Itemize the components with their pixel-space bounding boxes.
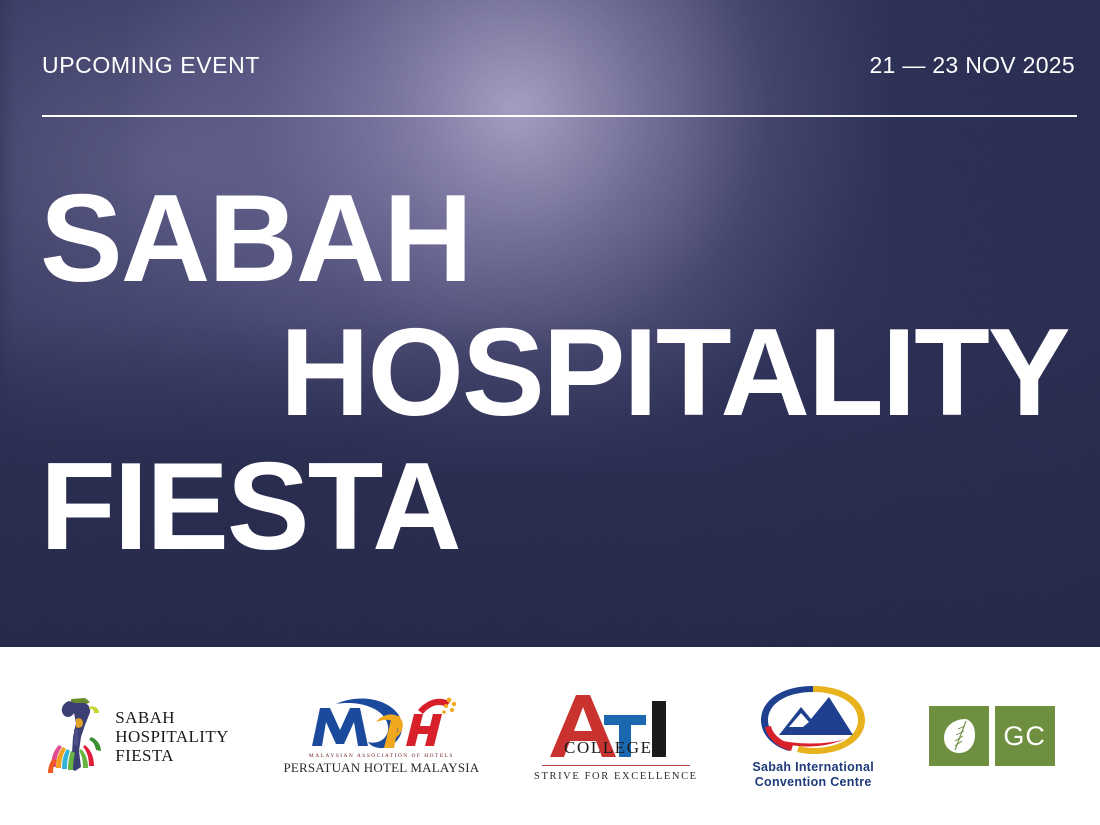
logo-mah-tagline-bottom: PERSATUAN HOTEL MALAYSIA — [283, 760, 479, 776]
title-line-1: SABAH — [0, 172, 1100, 306]
logo-malaysian-association-of-hotels[interactable]: MALAYSIAN ASSOCIATION OF HOTELS PERSATUA… — [283, 696, 479, 776]
logo-shf-line-3: FIESTA — [115, 746, 229, 765]
svg-text:COLLEGE: COLLEGE — [564, 738, 653, 757]
partner-logo-strip: SABAH HOSPITALITY FIESTA MALAYSIAN ASSOC… — [0, 647, 1100, 825]
logo-shf-text: SABAH HOSPITALITY FIESTA — [115, 708, 229, 765]
mah-monogram-icon — [306, 696, 456, 752]
eyebrow-label: UPCOMING EVENT — [42, 52, 260, 79]
header-divider-rule — [42, 115, 1077, 117]
mountain-oval-icon — [753, 683, 873, 757]
logo-gc-green[interactable]: GC — [929, 706, 1055, 766]
ati-divider — [542, 765, 690, 766]
ati-monogram-icon: COLLEGE — [546, 691, 686, 763]
logo-sabah-hospitality-fiesta[interactable]: SABAH HOSPITALITY FIESTA — [45, 693, 229, 779]
dancer-figure-icon — [45, 693, 107, 779]
leaf-icon — [942, 717, 976, 755]
gc-leaf-tile — [929, 706, 989, 766]
title-line-2: HOSPITALITY — [0, 306, 1100, 440]
logo-sicc-text: Sabah International Convention Centre — [752, 760, 874, 790]
logo-sicc-line-2: Convention Centre — [752, 775, 874, 790]
logo-sabah-international-convention-centre[interactable]: Sabah International Convention Centre — [752, 683, 874, 790]
logo-shf-line-2: HOSPITALITY — [115, 727, 229, 746]
logo-ati-tagline: STRIVE FOR EXCELLENCE — [534, 771, 698, 782]
gc-letters-tile: GC — [995, 706, 1055, 766]
title-line-3: FIESTA — [0, 440, 1100, 574]
page-title: SABAH HOSPITALITY FIESTA — [0, 172, 1100, 574]
hero-section: UPCOMING EVENT 21 — 23 NOV 2025 SABAH HO… — [0, 0, 1100, 647]
logo-sicc-line-1: Sabah International — [752, 760, 874, 775]
event-date: 21 — 23 NOV 2025 — [869, 52, 1075, 79]
gc-letters: GC — [1003, 723, 1046, 750]
logo-mah-tagline-top: MALAYSIAN ASSOCIATION OF HOTELS — [309, 753, 454, 759]
event-banner: UPCOMING EVENT 21 — 23 NOV 2025 SABAH HO… — [0, 0, 1100, 825]
logo-ati-college[interactable]: COLLEGE STRIVE FOR EXCELLENCE — [534, 691, 698, 782]
logo-shf-line-1: SABAH — [115, 708, 229, 727]
